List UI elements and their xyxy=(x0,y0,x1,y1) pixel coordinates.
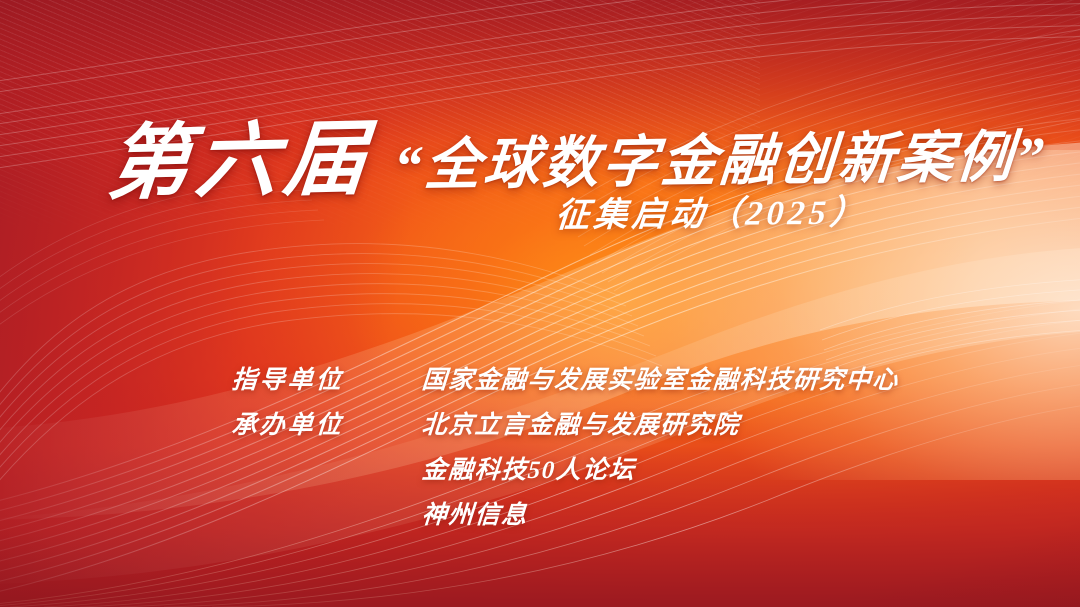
edition-text: 第六届 xyxy=(104,118,375,206)
credit-label: 承办单位 xyxy=(231,405,424,441)
credit-row: 指导单位 国家金融与发展实验室金融科技研究中心 xyxy=(232,360,952,405)
subtitle-text: 征集启动（2025） xyxy=(554,184,870,236)
credit-value: 国家金融与发展实验室金融科技研究中心 xyxy=(421,360,901,396)
main-title-text: “全球数字金融创新案例” xyxy=(392,129,1049,194)
credit-row: 金融科技50人论坛 xyxy=(232,450,952,495)
poster-content: 第六届 “全球数字金融创新案例” 征集启动（2025） 指导单位 国家金融与发展… xyxy=(0,0,1080,607)
credit-value: 金融科技50人论坛 xyxy=(421,450,637,486)
credit-value: 北京立言金融与发展研究院 xyxy=(421,405,742,441)
credit-label: 指导单位 xyxy=(231,360,424,396)
credits-block: 指导单位 国家金融与发展实验室金融科技研究中心 承办单位 北京立言金融与发展研究… xyxy=(232,360,952,540)
credit-row: 承办单位 北京立言金融与发展研究院 xyxy=(232,405,952,450)
credit-value: 神州信息 xyxy=(421,495,530,531)
credit-row: 神州信息 xyxy=(232,495,952,540)
poster-canvas: 第六届 “全球数字金融创新案例” 征集启动（2025） 指导单位 国家金融与发展… xyxy=(0,0,1080,607)
